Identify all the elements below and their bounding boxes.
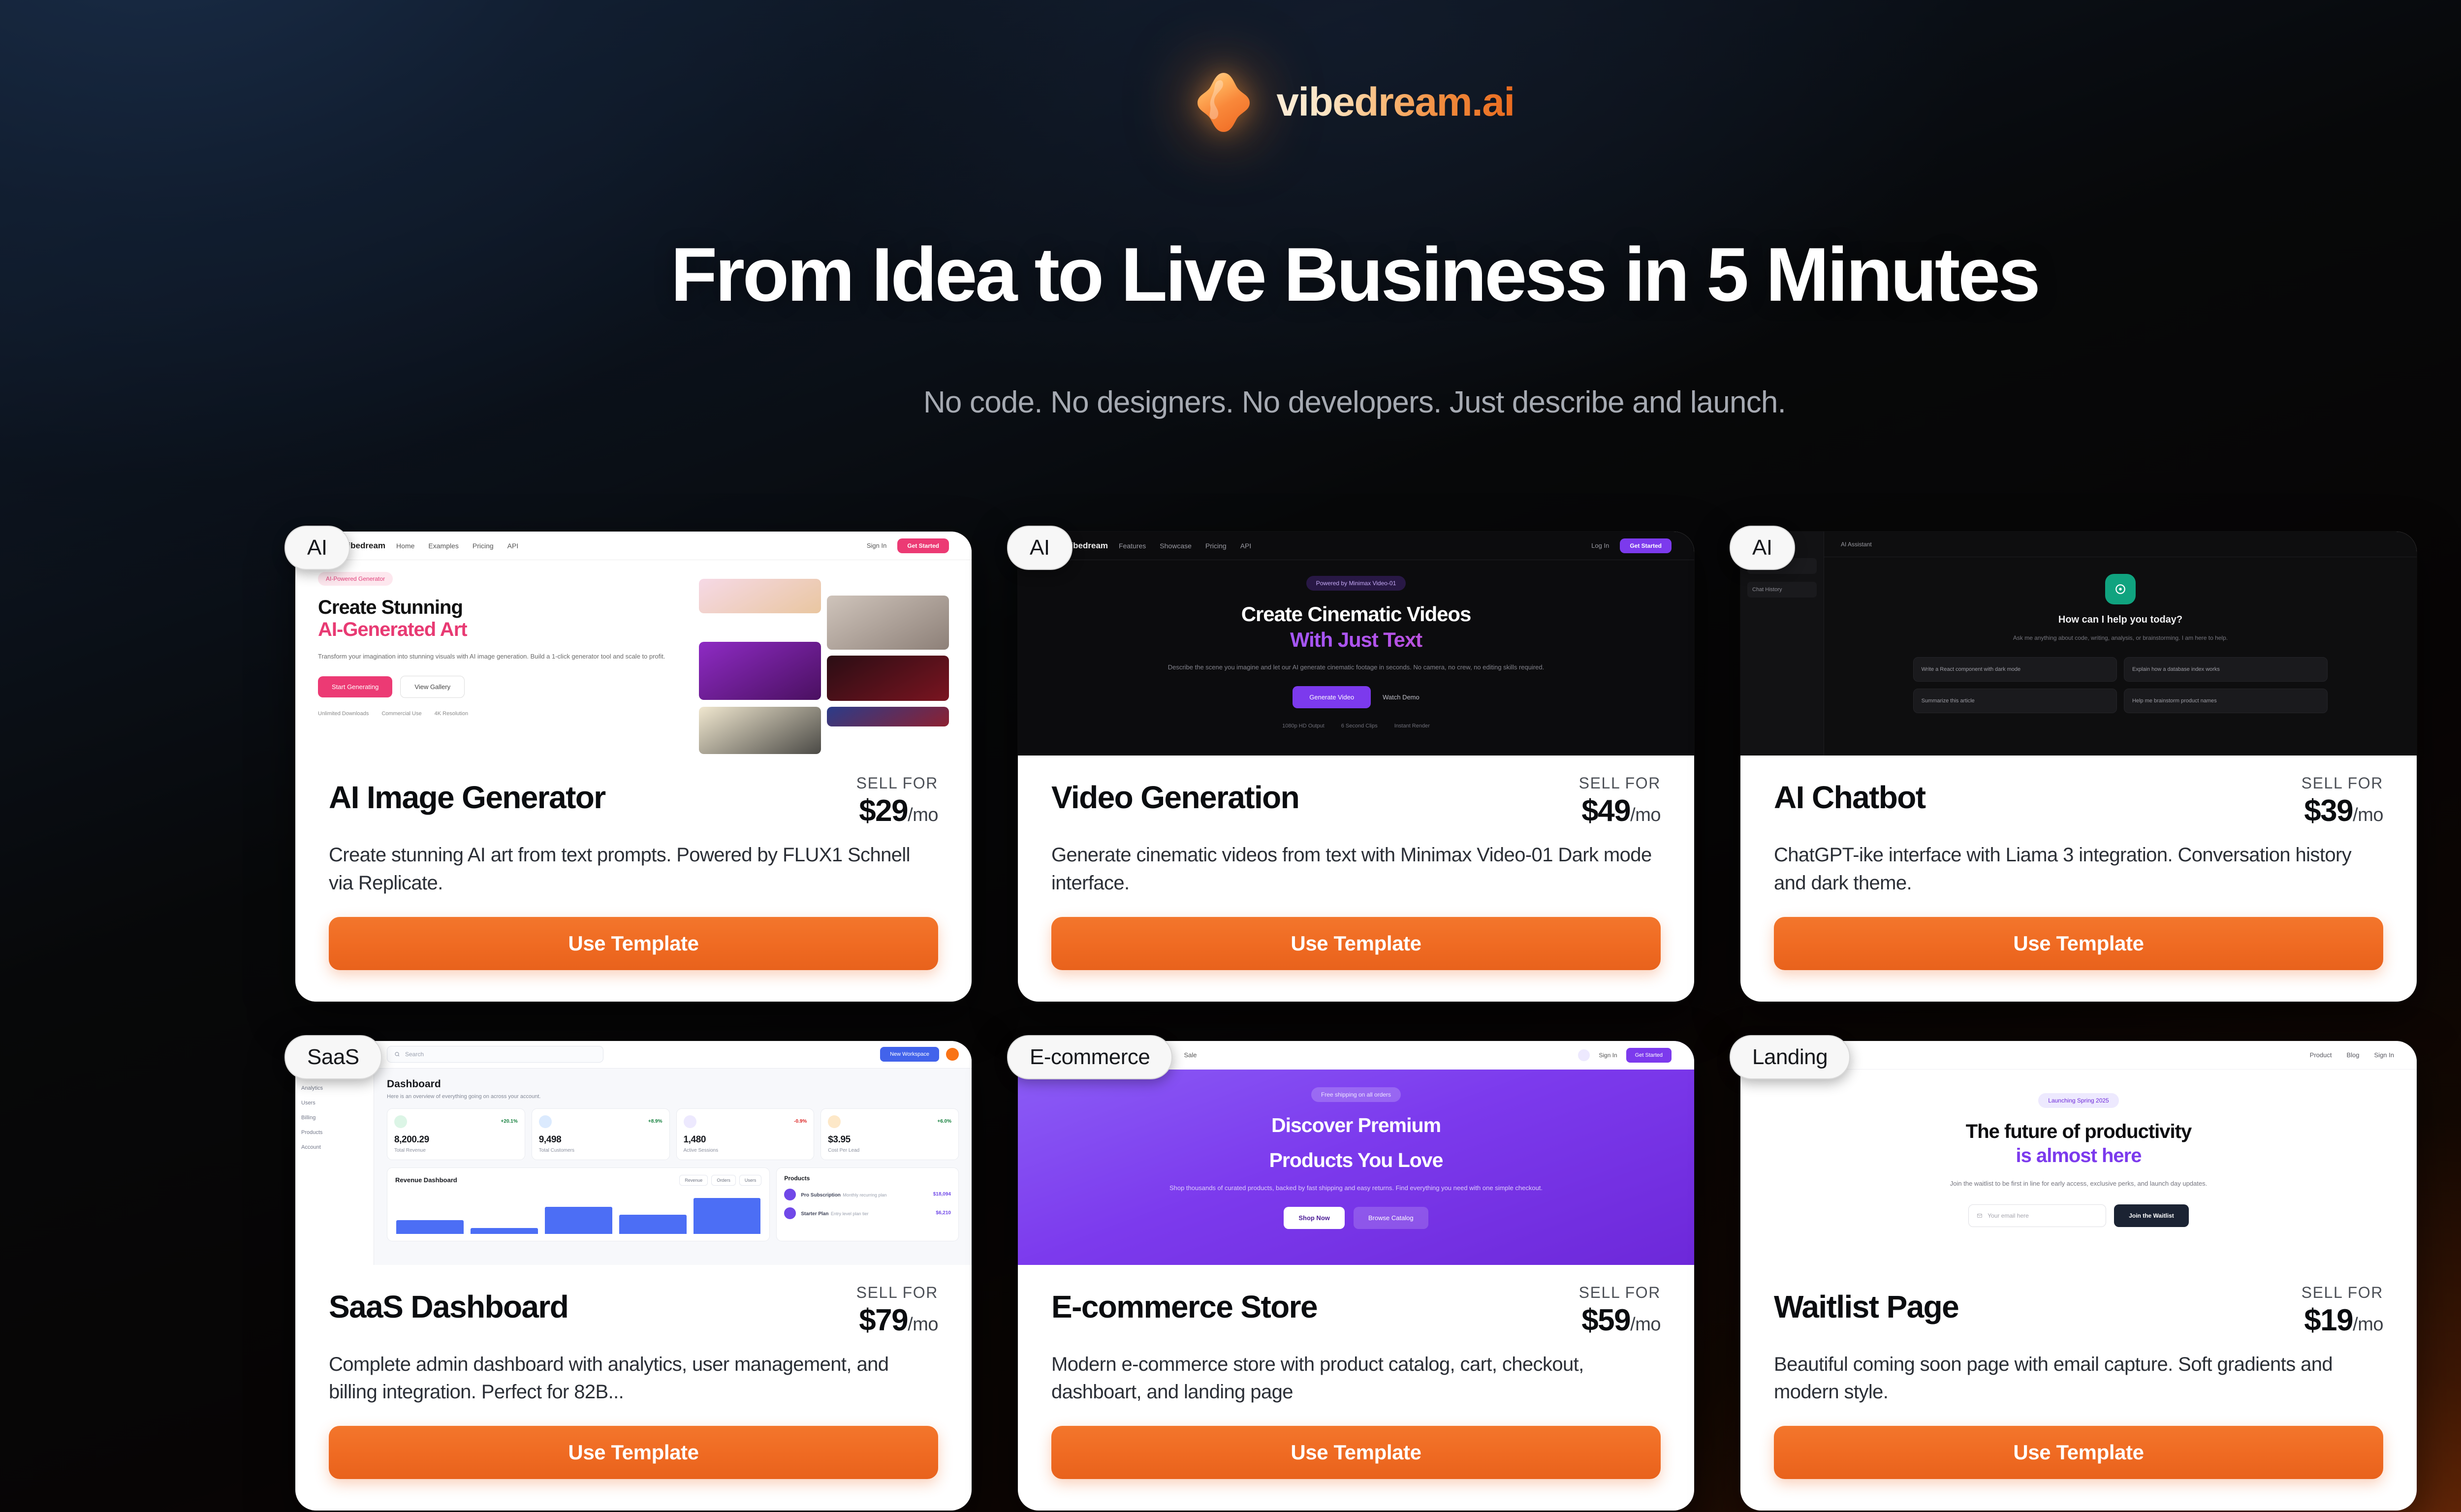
card-preview-thumbnail: vibedream Home Examples Pricing API Sign…: [295, 532, 972, 756]
preview-pill: Powered by Minimax Video-01: [1306, 576, 1406, 591]
preview-cta-button: Get Started: [1626, 1048, 1672, 1063]
preview-signin-link: Sign In: [1599, 1052, 1617, 1059]
preview-bar-chart: Revenue Dashboard Revenue Orders Users: [387, 1167, 770, 1241]
preview-nav-item: Account: [301, 1144, 368, 1150]
pulse-icon: [828, 1115, 841, 1128]
preview-swatch: [827, 707, 949, 726]
preview-product-icon: [784, 1207, 796, 1219]
preview-stat-value: 1,480: [684, 1134, 807, 1145]
preview-suggestion: Explain how a database index works: [2124, 657, 2328, 682]
preview-chart-chip: Orders: [711, 1175, 736, 1186]
price-period: /mo: [908, 1314, 938, 1335]
preview-chart-chip: Revenue: [679, 1175, 708, 1186]
preview-subtext: Ask me anything about code, writing, ana…: [1824, 632, 2417, 643]
preview-heading-2: AI-Generated Art: [318, 619, 684, 641]
use-template-button[interactable]: Use Template: [1051, 917, 1661, 970]
card-preview-thumbnail: Nexus Dashboard Analytics Users Billing …: [295, 1041, 972, 1265]
card-title: SaaS Dashboard: [329, 1283, 568, 1323]
preview-swatch: [699, 579, 821, 613]
preview-navbar: vibedream Home Examples Pricing API Sign…: [295, 532, 972, 560]
price-period: /mo: [2353, 1314, 2383, 1335]
preview-signin-link: Sign In: [867, 542, 886, 549]
preview-stat-label: Total Customers: [539, 1148, 663, 1153]
sell-for-label: SELL FOR: [2302, 774, 2383, 792]
price-block: SELL FOR $19/mo: [2302, 1283, 2383, 1338]
preview-nav-item: Analytics: [301, 1085, 368, 1091]
cart-icon: [1578, 1049, 1590, 1061]
preview-body-text: Shop thousands of curated products, back…: [1018, 1182, 1694, 1194]
preview-heading-2: is almost here: [1740, 1145, 2417, 1167]
preview-nav-right: Sign In Get Started: [867, 538, 949, 553]
preview-chart-bar: [471, 1228, 538, 1234]
preview-chart-bar: [545, 1207, 612, 1234]
price-amount: $19: [2304, 1303, 2353, 1337]
preview-brand: vibedream: [344, 541, 385, 551]
preview-products-panel: Products Pro Subscription Monthly recurr…: [776, 1167, 959, 1241]
card-description: Create stunning AI art from text prompts…: [329, 841, 938, 897]
sell-for-label: SELL FOR: [2302, 1284, 2383, 1302]
page-root: vibedream.ai From Idea to Live Business …: [0, 0, 2461, 1512]
preview-feature: Commercial Use: [381, 711, 421, 717]
preview-primary-button: Generate Video: [1293, 686, 1371, 708]
price-amount: $79: [859, 1303, 908, 1337]
use-template-button[interactable]: Use Template: [1774, 917, 2383, 970]
preview-cta-button: Get Started: [897, 538, 949, 553]
template-card-video-generation[interactable]: AI vibedream Features Showcase Pricing A…: [1018, 532, 1694, 1002]
preview-chart-bar: [396, 1220, 464, 1233]
card-preview-thumbnail: Chatbot New Chat Chat History AI Assista…: [1740, 532, 2417, 756]
preview-stat-card: -0.9% 1,480 Active Sessions: [676, 1108, 815, 1160]
price-period: /mo: [908, 805, 938, 825]
flame-blob-icon: [1195, 71, 1253, 133]
category-badge: Landing: [1730, 1035, 1850, 1079]
preview-header-title: AI Assistant: [1841, 541, 1872, 548]
preview-nav-item: Examples: [428, 542, 458, 550]
preview-chart-chip: Users: [739, 1175, 762, 1186]
price-block: SELL FOR $49/mo: [1579, 773, 1661, 828]
template-card-ai-image-generator[interactable]: AI vibedream Home Examples Pricing API: [295, 532, 972, 1002]
preview-nav-item: API: [1240, 542, 1252, 550]
template-grid: AI vibedream Home Examples Pricing API: [295, 532, 2417, 1511]
category-badge: AI: [1730, 526, 1795, 570]
preview-stat-delta: +6.0%: [937, 1119, 951, 1124]
brand-lockup: vibedream.ai: [0, 71, 2461, 133]
preview-stat-value: 9,498: [539, 1134, 663, 1145]
preview-secondary-button: View Gallery: [400, 676, 465, 698]
preview-navbar: vibedream Features Showcase Pricing API …: [1018, 532, 1694, 560]
preview-sidebar-item: Chat History: [1747, 582, 1817, 598]
preview-pill: Free shipping on all orders: [1311, 1087, 1401, 1102]
card-price: $79/mo: [856, 1303, 938, 1338]
preview-primary-button: Shop Now: [1284, 1207, 1345, 1229]
preview-feature: Instant Render: [1394, 723, 1430, 729]
preview-heading-1: The future of productivity: [1740, 1121, 2417, 1143]
preview-product-value: $18,094: [933, 1192, 951, 1197]
card-description: Beautiful coming soon page with email ca…: [1774, 1351, 2383, 1407]
use-template-button[interactable]: Use Template: [329, 917, 938, 970]
preview-swatch: [699, 642, 821, 700]
preview-page-title: Dashboard: [387, 1078, 959, 1090]
use-template-button[interactable]: Use Template: [1051, 1426, 1661, 1479]
preview-product-value: $6,210: [936, 1210, 951, 1216]
preview-suggestion: Write a React component with dark mode: [1913, 657, 2117, 682]
preview-heading-1: Create Stunning: [318, 597, 684, 619]
preview-body-text: Transform your imagination into stunning…: [318, 651, 684, 662]
price-block: SELL FOR $79/mo: [856, 1283, 938, 1338]
card-title: Video Generation: [1051, 773, 1299, 814]
preview-product-name: Starter Plan: [801, 1211, 828, 1217]
category-badge: AI: [284, 526, 350, 570]
price-period: /mo: [1630, 1314, 1661, 1335]
card-title: Waitlist Page: [1774, 1283, 1958, 1323]
preview-signin-link: Log In: [1591, 542, 1609, 549]
preview-feature: 4K Resolution: [435, 711, 469, 717]
price-period: /mo: [2353, 805, 2383, 825]
preview-search-placeholder: Search: [405, 1051, 424, 1058]
preview-heading-2: With Just Text: [1018, 628, 1694, 652]
preview-nav-item: Sign In: [2374, 1051, 2394, 1059]
preview-stat-value: $3.95: [828, 1134, 951, 1145]
preview-stat-label: Total Revenue: [394, 1148, 518, 1153]
preview-feature: Unlimited Downloads: [318, 711, 369, 717]
funnel-icon: [684, 1115, 696, 1128]
preview-primary-button: Start Generating: [318, 676, 392, 697]
preview-nav: Home Examples Pricing API: [396, 542, 518, 550]
preview-email-placeholder: Your email here: [1988, 1212, 2029, 1219]
page-subtitle: No code. No designers. No developers. Ju…: [0, 385, 2461, 420]
template-card-ecommerce-store[interactable]: E-commerce ShopFlow Products Pricing Sal…: [1018, 1041, 1694, 1511]
preview-swatch: [827, 596, 949, 650]
preview-panel-title: Products: [784, 1175, 951, 1182]
preview-secondary-button: Browse Catalog: [1354, 1207, 1428, 1229]
preview-nav-item: Sale: [1184, 1051, 1197, 1059]
card-price: $49/mo: [1579, 793, 1661, 828]
card-description: ChatGPT-ike interface with Liama 3 integ…: [1774, 841, 2383, 897]
preview-nav-item: Blog: [2346, 1051, 2359, 1059]
preview-product-meta: Monthly recurring plan: [843, 1193, 886, 1197]
preview-product-icon: [784, 1189, 796, 1200]
preview-page-subtitle: Here is an overview of everything going …: [387, 1094, 959, 1100]
preview-product-name: Pro Subscription: [801, 1193, 841, 1198]
card-description: Complete admin dashboard with analytics,…: [329, 1351, 938, 1407]
preview-nav-item: Home: [396, 542, 414, 550]
preview-nav-item: Features: [1119, 542, 1146, 550]
preview-question: How can I help you today?: [1824, 614, 2417, 626]
template-card-ai-chatbot[interactable]: AI Chatbot New Chat Chat History AI Assi…: [1740, 532, 2417, 1002]
preview-nav-right: Log In Get Started: [1591, 538, 1672, 553]
preview-nav-item: Showcase: [1160, 542, 1192, 550]
preview-stat-card: +20.1% 8,200.29 Total Revenue: [387, 1108, 525, 1160]
preview-email-input: Your email here: [1968, 1204, 2106, 1227]
preview-cta-button: New Workspace: [880, 1047, 939, 1062]
category-badge: E-commerce: [1007, 1035, 1172, 1079]
preview-stat-value: 8,200.29: [394, 1134, 518, 1145]
preview-chart-bar: [619, 1215, 687, 1234]
preview-nav-item: Products: [301, 1130, 368, 1135]
preview-chart-bar: [694, 1198, 761, 1233]
preview-heading-1: Discover Premium: [1018, 1114, 1694, 1137]
preview-suggestion-grid: Write a React component with dark mode E…: [1913, 657, 2328, 713]
mail-icon: [1977, 1213, 1983, 1219]
preview-brand: vibedream: [1066, 541, 1108, 551]
preview-product-meta: Entry level plan tier: [831, 1211, 869, 1216]
card-price: $39/mo: [2302, 793, 2383, 828]
preview-chart-bars: [396, 1196, 760, 1234]
preview-stat-card: +6.0% $3.95 Cost Per Lead: [820, 1108, 959, 1160]
preview-stat-grid: +20.1% 8,200.29 Total Revenue +8.9% 9,49…: [387, 1108, 959, 1160]
preview-search-input: Search: [387, 1046, 603, 1063]
card-description: Modern e-commerce store with product cat…: [1051, 1351, 1661, 1407]
card-title: AI Image Generator: [329, 773, 605, 814]
preview-suggestion: Help me brainstorm product names: [2124, 689, 2328, 713]
preview-body-text: Join the waitlist to be first in line fo…: [1740, 1178, 2417, 1190]
price-block: SELL FOR $59/mo: [1579, 1283, 1661, 1338]
card-price: $59/mo: [1579, 1303, 1661, 1338]
preview-avatar: [946, 1048, 959, 1061]
preview-bot-avatar-icon: [2105, 574, 2136, 604]
preview-nav-item: Billing: [301, 1115, 368, 1121]
price-period: /mo: [1630, 805, 1661, 825]
sell-for-label: SELL FOR: [1579, 774, 1661, 792]
users-icon: [539, 1115, 552, 1128]
preview-nav: Features Showcase Pricing API: [1119, 542, 1251, 550]
preview-secondary-button: Watch Demo: [1383, 693, 1420, 701]
page-title: From Idea to Live Business in 5 Minutes: [0, 236, 2461, 313]
preview-swatch: [699, 707, 821, 754]
card-price: $19/mo: [2302, 1303, 2383, 1338]
preview-nav-item: Pricing: [473, 542, 494, 550]
card-title: AI Chatbot: [1774, 773, 1925, 814]
preview-stat-label: Cost Per Lead: [828, 1148, 951, 1153]
preview-stat-card: +8.9% 9,498 Total Customers: [532, 1108, 670, 1160]
preview-nav-item: Users: [301, 1100, 368, 1106]
preview-pill: AI-Powered Generator: [318, 572, 393, 586]
price-amount: $49: [1581, 794, 1630, 828]
sell-for-label: SELL FOR: [856, 1284, 938, 1302]
price-block: SELL FOR $39/mo: [2302, 773, 2383, 828]
preview-stat-label: Active Sessions: [684, 1148, 807, 1153]
preview-chart-title: Revenue Dashboard: [395, 1176, 457, 1184]
card-description: Generate cinematic videos from text with…: [1051, 841, 1661, 897]
dollar-icon: [394, 1115, 407, 1128]
preview-suggestion: Summarize this article: [1913, 689, 2117, 713]
price-amount: $29: [859, 794, 908, 828]
sell-for-label: SELL FOR: [856, 774, 938, 792]
preview-pill: Launching Spring 2025: [2038, 1093, 2118, 1108]
preview-primary-button: Join the Waitlist: [2114, 1204, 2189, 1227]
price-amount: $39: [2304, 794, 2353, 828]
preview-image-grid: [699, 572, 949, 754]
preview-feature: 6 Second Clips: [1341, 723, 1378, 729]
search-icon: [394, 1051, 400, 1057]
preview-header: AI Assistant: [1824, 532, 2417, 557]
preview-stat-delta: +8.9%: [648, 1119, 663, 1124]
sell-for-label: SELL FOR: [1579, 1284, 1661, 1302]
preview-heading-1: Create Cinematic Videos: [1018, 602, 1694, 626]
template-card-saas-dashboard[interactable]: SaaS Nexus Dashboard Analytics Users Bil…: [295, 1041, 972, 1511]
preview-nav-item: Product: [2310, 1051, 2332, 1059]
use-template-button[interactable]: Use Template: [1774, 1426, 2383, 1479]
card-title: E-commerce Store: [1051, 1283, 1317, 1323]
preview-swatch: [827, 656, 949, 701]
preview-body-text: Describe the scene you imagine and let o…: [1018, 661, 1694, 673]
preview-nav-item: API: [507, 542, 519, 550]
price-block: SELL FOR $29/mo: [856, 773, 938, 828]
card-preview-thumbnail: vibedream Features Showcase Pricing API …: [1018, 532, 1694, 756]
price-amount: $59: [1581, 1303, 1630, 1337]
preview-heading-2: Products You Love: [1018, 1149, 1694, 1172]
card-price: $29/mo: [856, 793, 938, 828]
category-badge: AI: [1007, 526, 1073, 570]
preview-cta-button: Get Started: [1620, 538, 1672, 553]
use-template-button[interactable]: Use Template: [329, 1426, 938, 1479]
preview-nav-item: Pricing: [1205, 542, 1227, 550]
template-card-waitlist-page[interactable]: Landing Aomo Product Blog Sign In Launch…: [1740, 1041, 2417, 1511]
preview-stat-delta: -0.9%: [794, 1119, 807, 1124]
preview-feature: 1080p HD Output: [1282, 723, 1325, 729]
preview-stat-delta: +20.1%: [501, 1119, 518, 1124]
brand-name: vibedream.ai: [1276, 79, 1514, 126]
category-badge: SaaS: [284, 1035, 382, 1079]
